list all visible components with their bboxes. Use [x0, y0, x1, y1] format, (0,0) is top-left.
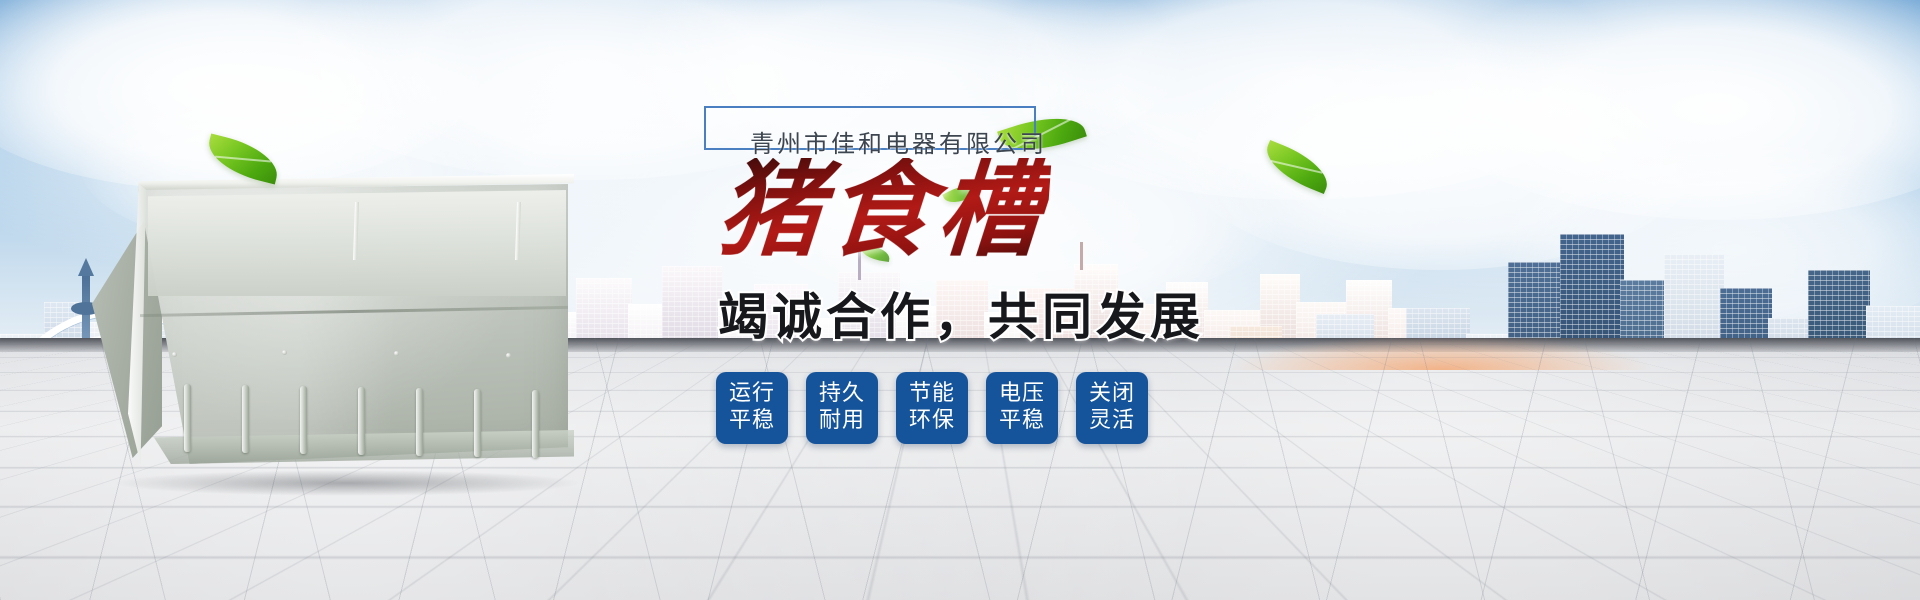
promotional-banner: 青州市佳和电器有限公司 猪食槽 竭诚合作，共同发展 运行 平稳 持久 耐用 节能… [0, 0, 1920, 600]
trough-divider-bar [300, 386, 307, 454]
badge-line-2: 环保 [909, 408, 955, 435]
feature-badge-flexible-closing[interactable]: 关闭 灵活 [1076, 372, 1148, 444]
feature-badge-stable-voltage[interactable]: 电压 平稳 [986, 372, 1058, 444]
feature-badge-durable[interactable]: 持久 耐用 [806, 372, 878, 444]
page-subtitle: 竭诚合作，共同发展 [718, 292, 1204, 342]
trough-divider-bar [184, 384, 191, 452]
product-shadow [112, 470, 582, 496]
trough-divider-bar [416, 388, 423, 456]
badge-line-1: 电压 [999, 381, 1045, 408]
badge-line-1: 运行 [729, 381, 775, 408]
badge-line-1: 节能 [909, 381, 955, 408]
trough-divider-bar [474, 389, 481, 457]
badge-line-1: 关闭 [1089, 381, 1135, 408]
trough-body [92, 168, 582, 468]
trough-divider-bar [532, 390, 539, 458]
feature-badge-stable-operation[interactable]: 运行 平稳 [716, 372, 788, 444]
product-image-pig-feeding-trough [52, 150, 612, 490]
page-title: 猪食槽 [714, 158, 1051, 262]
badge-line-2: 平稳 [729, 408, 775, 435]
badge-line-1: 持久 [819, 381, 865, 408]
trough-bolt-row [162, 350, 562, 360]
badge-line-2: 平稳 [999, 408, 1045, 435]
badge-line-2: 灵活 [1089, 408, 1135, 435]
trough-divider-bar [242, 385, 249, 453]
banner-text-block: 青州市佳和电器有限公司 猪食槽 竭诚合作，共同发展 运行 平稳 持久 耐用 节能… [700, 96, 1420, 566]
badge-line-2: 耐用 [819, 408, 865, 435]
trough-divider-bar [358, 387, 365, 455]
feature-badge-list: 运行 平稳 持久 耐用 节能 环保 电压 平稳 关闭 灵活 [716, 372, 1148, 444]
feature-badge-energy-saving[interactable]: 节能 环保 [896, 372, 968, 444]
